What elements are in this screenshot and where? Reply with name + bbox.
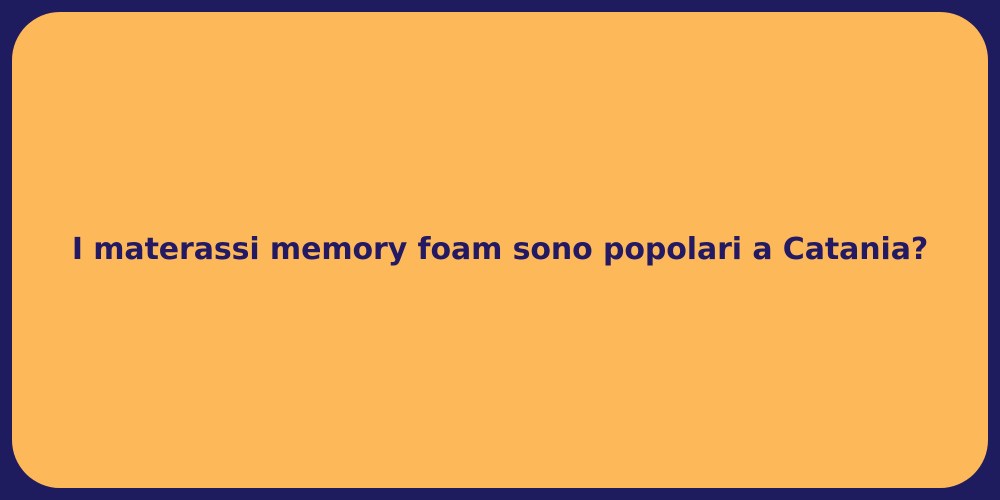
banner-frame: I materassi memory foam sono popolari a …	[0, 0, 1000, 500]
banner-card: I materassi memory foam sono popolari a …	[12, 12, 988, 488]
banner-headline: I materassi memory foam sono popolari a …	[72, 231, 928, 269]
